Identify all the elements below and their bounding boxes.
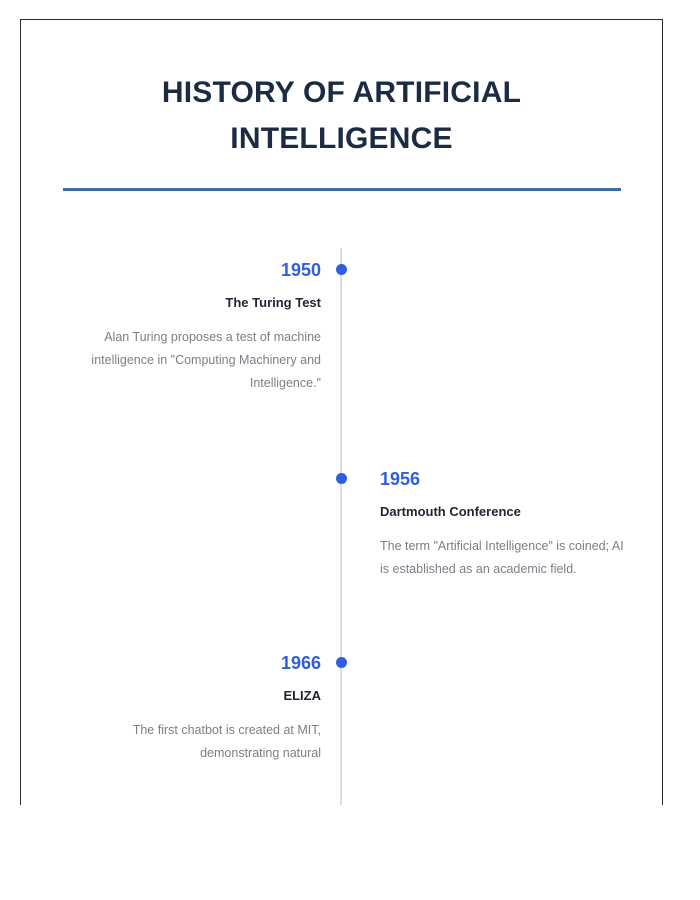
timeline-entry: 1950 The Turing Test Alan Turing propose…	[41, 260, 321, 395]
page-content: HISTORY OF ARTIFICIAL INTELLIGENCE 1950 …	[21, 20, 662, 805]
timeline-marker-dot	[336, 473, 347, 484]
timeline-axis-line	[340, 248, 342, 805]
timeline-entry-description: Alan Turing proposes a test of machine i…	[41, 326, 321, 395]
timeline-entry: 1956 Dartmouth Conference The term "Arti…	[380, 469, 660, 581]
timeline-entry-title: The Turing Test	[41, 295, 321, 311]
timeline-entry-title: Dartmouth Conference	[380, 504, 660, 520]
page-title: HISTORY OF ARTIFICIAL INTELLIGENCE	[107, 70, 577, 162]
timeline-entry-description: The first chatbot is created at MIT, dem…	[41, 719, 321, 765]
timeline-entry-year: 1950	[41, 260, 321, 280]
timeline-entry-year: 1966	[41, 653, 321, 673]
timeline-entry-year: 1956	[380, 469, 660, 489]
timeline-marker-dot	[336, 264, 347, 275]
timeline-entry-description: The term "Artificial Intelligence" is co…	[380, 535, 660, 581]
document-page: HISTORY OF ARTIFICIAL INTELLIGENCE 1950 …	[20, 19, 663, 805]
timeline-entry: 1966 ELIZA The first chatbot is created …	[41, 653, 321, 765]
title-divider	[63, 188, 621, 191]
timeline-marker-dot	[336, 657, 347, 668]
page-title-line-2: INTELLIGENCE	[230, 122, 452, 155]
document-header: HISTORY OF ARTIFICIAL INTELLIGENCE	[21, 20, 662, 191]
timeline: 1950 The Turing Test Alan Turing propose…	[21, 248, 662, 805]
page-title-line-1: HISTORY OF ARTIFICIAL	[162, 76, 521, 109]
timeline-entry-title: ELIZA	[41, 688, 321, 704]
